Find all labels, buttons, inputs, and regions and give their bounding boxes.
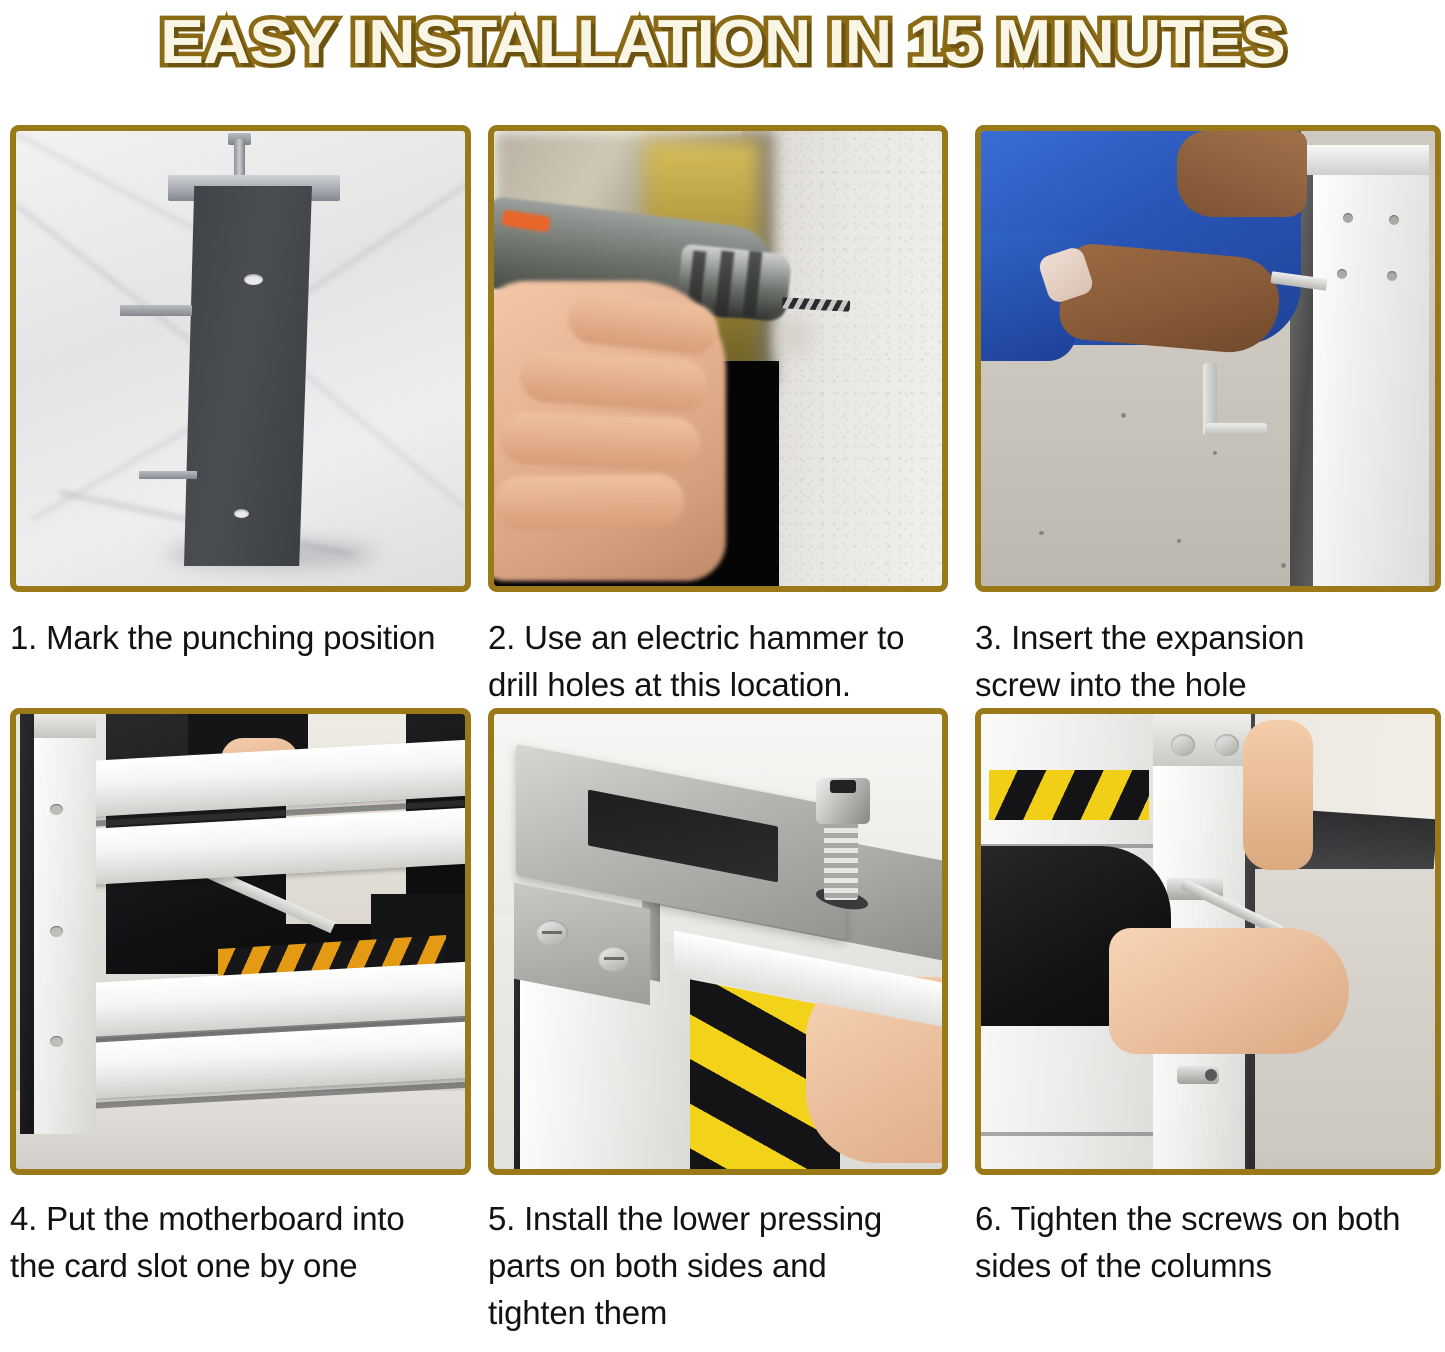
- photo-frame-4: [10, 708, 471, 1175]
- photo-tighten-screws: [981, 714, 1435, 1169]
- column-post: [34, 714, 96, 1134]
- installation-guide-page: EASY INSTALLATION IN 15 MINUTES: [0, 0, 1445, 1352]
- hex-bolt-icon: [824, 818, 858, 900]
- marking-hole: [244, 274, 263, 285]
- step-caption-3: 3. Insert the expansion screw into the h…: [975, 614, 1431, 708]
- photo-drill-holes: [494, 131, 942, 586]
- photo-frame-2: [488, 125, 948, 592]
- step-5: 5. Install the lower pressing parts on b…: [478, 708, 965, 1336]
- step-caption-1: 1. Mark the punching position: [10, 614, 464, 661]
- photo-frame-1: [10, 125, 471, 592]
- step-2: 2. Use an electric hammer to drill holes…: [478, 125, 965, 708]
- step-caption-5: 5. Install the lower pressing parts on b…: [488, 1195, 951, 1336]
- step-6: 6. Tighten the screws on both sides of t…: [965, 708, 1445, 1336]
- column-post: [1313, 153, 1429, 586]
- side-screw: [120, 305, 192, 316]
- title-banner: EASY INSTALLATION IN 15 MINUTES: [0, 0, 1445, 86]
- photo-mark-punching-position: [16, 131, 465, 586]
- page-title: EASY INSTALLATION IN 15 MINUTES: [160, 11, 1285, 75]
- marking-hole: [234, 509, 249, 518]
- pan-screw: [1215, 734, 1239, 756]
- step-caption-4: 4. Put the motherboard into the card slo…: [10, 1195, 464, 1289]
- step-3: 3. Insert the expansion screw into the h…: [965, 125, 1445, 708]
- side-screw: [139, 471, 197, 479]
- photo-insert-expansion-screw: [981, 131, 1435, 586]
- pan-screw: [536, 920, 568, 946]
- photo-frame-5: [488, 708, 948, 1175]
- step-caption-2: 2. Use an electric hammer to drill holes…: [488, 614, 951, 708]
- pan-screw: [1171, 734, 1195, 756]
- hazard-stripe: [989, 770, 1149, 820]
- photo-install-pressing-parts: [494, 714, 942, 1169]
- photo-frame-3: [975, 125, 1441, 592]
- step-1: 1. Mark the punching position: [0, 125, 478, 708]
- hand: [1057, 242, 1283, 357]
- column-post: [184, 186, 312, 566]
- hand: [1109, 928, 1349, 1054]
- photo-frame-6: [975, 708, 1441, 1175]
- pan-screw: [598, 946, 630, 972]
- step-4: 4. Put the motherboard into the card slo…: [0, 708, 478, 1336]
- photo-insert-boards: [16, 714, 465, 1169]
- steps-grid: 1. Mark the punching position: [0, 125, 1445, 1336]
- step-caption-6: 6. Tighten the screws on both sides of t…: [975, 1195, 1431, 1289]
